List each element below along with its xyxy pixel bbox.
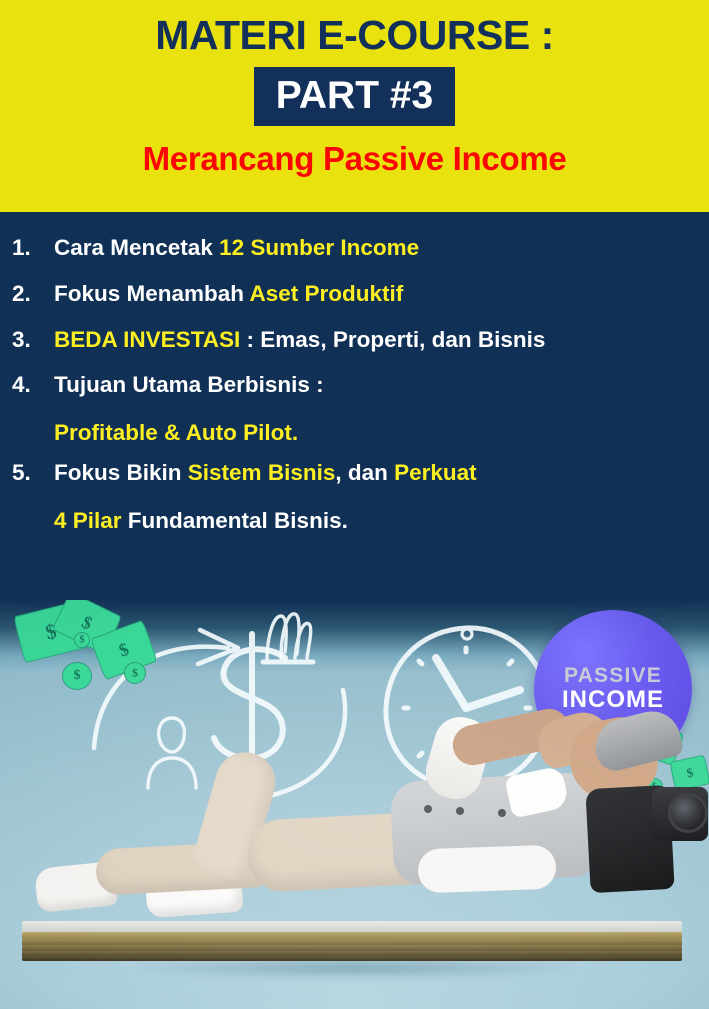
list-item-text: Tujuan Utama Berbisnis :Profitable & Aut… xyxy=(54,371,701,448)
hero-photo-scene: $ $ $ $ $ $ $ $ $ $ $ $ $ PASSIVE INCOME xyxy=(0,600,709,1009)
list-item-number: 5. xyxy=(12,459,54,488)
text-segment-highlight: Sistem Bisnis xyxy=(188,460,336,485)
list-item-number: 1. xyxy=(12,234,54,263)
list-item-text: Fokus Bikin Sistem Bisnis, dan Perkuat 4… xyxy=(54,459,701,536)
list-item-number: 2. xyxy=(12,280,54,309)
list-item: 5. Fokus Bikin Sistem Bisnis, dan Perkua… xyxy=(12,459,701,536)
page-subtitle: Merancang Passive Income xyxy=(143,140,567,178)
page-title: MATERI E-COURSE : xyxy=(155,14,553,57)
text-segment: Cara Mencetak xyxy=(54,235,219,260)
text-segment-highlight: 4 Pilar xyxy=(54,508,122,533)
text-segment: : Emas, Properti, dan Bisnis xyxy=(240,327,545,352)
list-item-text: Fokus Menambah Aset Produktif xyxy=(54,280,701,309)
scene-vignette xyxy=(0,600,709,1009)
text-segment-highlight: BEDA INVESTASI xyxy=(54,327,240,352)
list-item-text: BEDA INVESTASI : Emas, Properti, dan Bis… xyxy=(54,326,701,355)
list-item-number: 3. xyxy=(12,326,54,355)
curriculum-list: 1. Cara Mencetak 12 Sumber Income 2. Fok… xyxy=(0,212,709,612)
text-segment-highlight: 12 Sumber Income xyxy=(219,235,419,260)
list-item: 3. BEDA INVESTASI : Emas, Properti, dan … xyxy=(12,326,701,355)
list-item-number: 4. xyxy=(12,371,54,400)
text-segment: Fokus Menambah xyxy=(54,281,249,306)
text-segment: Tujuan Utama Berbisnis : xyxy=(54,372,324,397)
poster: MATERI E-COURSE : PART #3 Merancang Pass… xyxy=(0,0,709,1009)
poster-header: MATERI E-COURSE : PART #3 Merancang Pass… xyxy=(0,0,709,212)
list-item-continuation: 4 Pilar Fundamental Bisnis. xyxy=(54,507,701,536)
text-segment: Fundamental Bisnis. xyxy=(122,508,348,533)
text-segment: Fokus Bikin xyxy=(54,460,188,485)
list-item: 4. Tujuan Utama Berbisnis :Profitable & … xyxy=(12,371,701,448)
list-item: 1. Cara Mencetak 12 Sumber Income xyxy=(12,234,701,263)
list-item: 2. Fokus Menambah Aset Produktif xyxy=(12,280,701,309)
text-segment-highlight: Aset Produktif xyxy=(249,281,403,306)
part-badge: PART #3 xyxy=(254,67,456,126)
list-item-text: Cara Mencetak 12 Sumber Income xyxy=(54,234,701,263)
text-segment: , dan xyxy=(335,460,394,485)
text-segment-highlight: Profitable & Auto Pilot. xyxy=(54,419,701,448)
text-segment-highlight: Perkuat xyxy=(394,460,477,485)
